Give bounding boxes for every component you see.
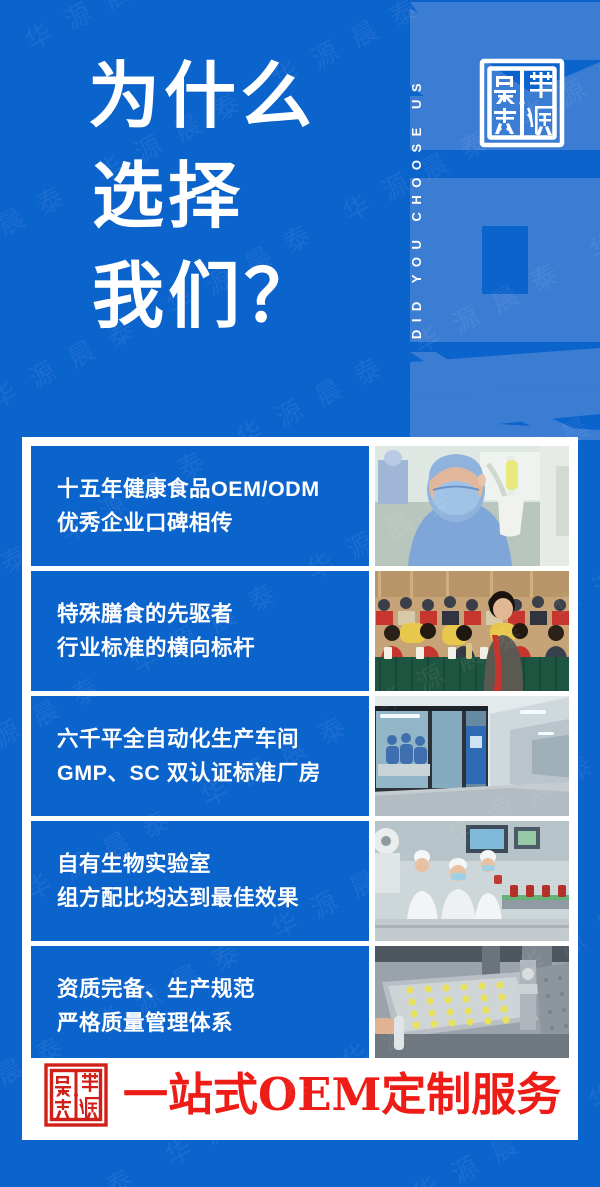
vertical-english-tagline: DID YOU CHOOSE US (403, 18, 429, 398)
feature-4-line-1: 自有生物实验室 (57, 847, 369, 881)
title-line-1: 为什么 (88, 46, 320, 146)
feature-3-line-2: GMP、SC 双认证标准厂房 (57, 756, 369, 790)
feature-5-text: 资质完备、生产规范 严格质量管理体系 (31, 946, 369, 1066)
feature-4-text: 自有生物实验室 组方配比均达到最佳效果 (31, 821, 369, 941)
feature-2-text: 特殊膳食的先驱者 行业标准的横向标杆 (31, 571, 369, 691)
feature-4-line-2: 组方配比均达到最佳效果 (57, 881, 369, 915)
poster-root: 为什么 选择 我们？ DID YOU CHOOSE US (0, 0, 600, 1187)
hero-section: 为什么 选择 我们？ DID YOU CHOOSE US (0, 0, 600, 437)
cta-banner: 一站式OEM定制服务 (31, 1058, 569, 1131)
title-line-2: 选择 (92, 146, 320, 246)
feature-row-2: 特殊膳食的先驱者 行业标准的横向标杆 (31, 571, 569, 691)
feature-row-5: 资质完备、生产规范 严格质量管理体系 (31, 946, 569, 1066)
feature-3-line-1: 六千平全自动化生产车间 (57, 722, 369, 756)
page-title: 为什么 选择 我们？ (88, 46, 320, 346)
brand-seal-red-icon (43, 1062, 109, 1128)
feature-1-text: 十五年健康食品OEM/ODM 优秀企业口碑相传 (31, 446, 369, 566)
brand-seal-white-icon (478, 56, 566, 150)
feature-4-image (375, 821, 569, 941)
feature-row-3: 六千平全自动化生产车间 GMP、SC 双认证标准厂房 (31, 696, 569, 816)
vertical-english-text: DID YOU CHOOSE US (409, 76, 424, 339)
feature-1-line-1: 十五年健康食品OEM/ODM (57, 472, 369, 506)
features-panel: 十五年健康食品OEM/ODM 优秀企业口碑相传 (22, 437, 578, 1140)
feature-1-line-2: 优秀企业口碑相传 (57, 506, 369, 540)
feature-row-4: 自有生物实验室 组方配比均达到最佳效果 (31, 821, 569, 941)
feature-row-1: 十五年健康食品OEM/ODM 优秀企业口碑相传 (31, 446, 569, 566)
feature-5-line-2: 严格质量管理体系 (57, 1006, 369, 1040)
features-list: 十五年健康食品OEM/ODM 优秀企业口碑相传 (31, 446, 569, 1066)
feature-2-image (375, 571, 569, 691)
feature-2-line-1: 特殊膳食的先驱者 (57, 597, 369, 631)
feature-3-text: 六千平全自动化生产车间 GMP、SC 双认证标准厂房 (31, 696, 369, 816)
feature-5-image (375, 946, 569, 1066)
feature-3-image (375, 696, 569, 816)
feature-2-line-2: 行业标准的横向标杆 (57, 631, 369, 665)
feature-1-image (375, 446, 569, 566)
cta-banner-text: 一站式OEM定制服务 (123, 1072, 561, 1117)
title-line-3: 我们？ (92, 246, 320, 346)
feature-5-line-1: 资质完备、生产规范 (57, 972, 369, 1006)
